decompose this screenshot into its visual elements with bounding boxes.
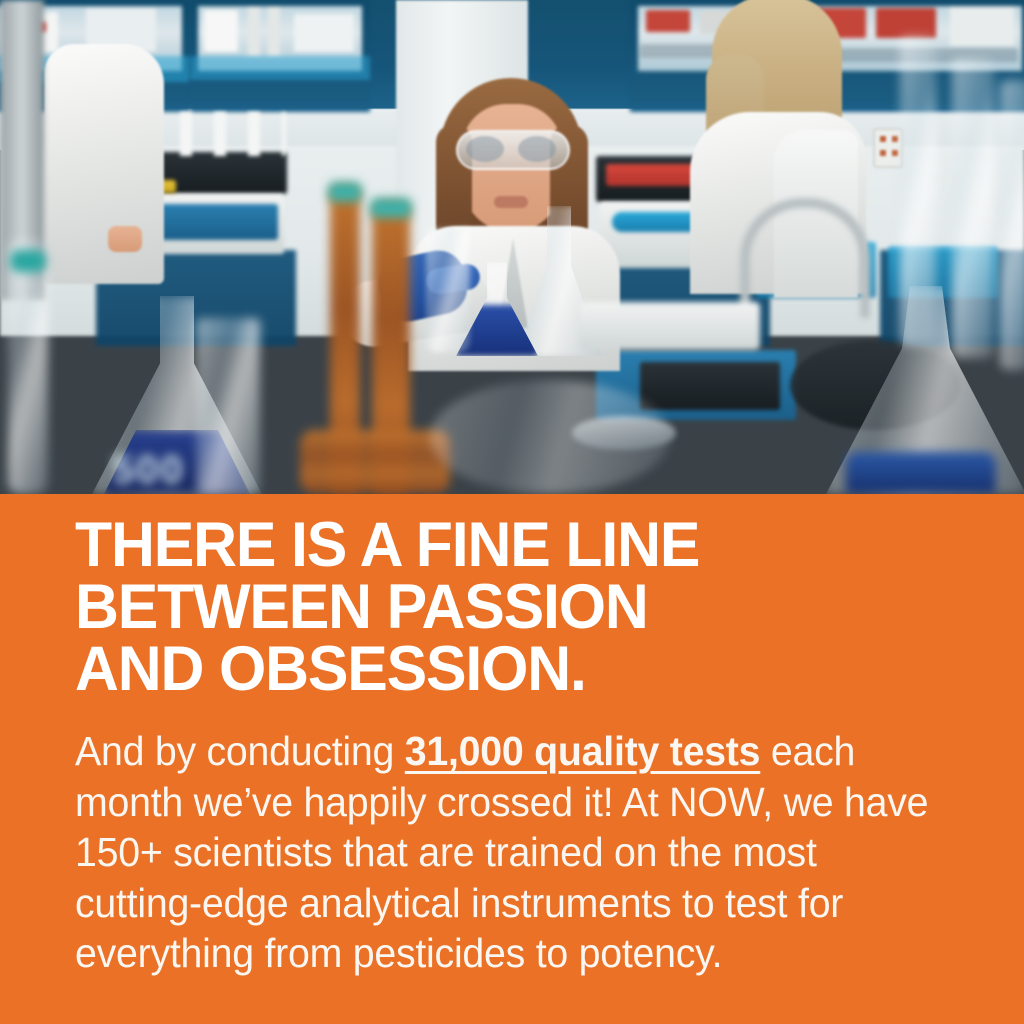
pipette-teal-tip <box>10 250 46 272</box>
body-copy: And by conducting 31,000 quality tests e… <box>75 726 953 979</box>
beaker-foreground-left <box>196 318 260 494</box>
orange-text-panel: THERE IS A FINE LINE BETWEEN PASSION AND… <box>0 494 1024 1024</box>
laboratory-photo: 500 <box>0 0 1024 494</box>
graduated-cylinder-right-1 <box>900 36 936 346</box>
graduated-cylinder-right-2 <box>952 58 994 358</box>
test-tube-rack-left <box>146 112 286 156</box>
scientist-left <box>44 44 164 284</box>
graduated-cylinder-right-3 <box>1000 80 1024 370</box>
glassware-right-liquid <box>846 452 996 494</box>
headline-line-2: BETWEEN PASSION <box>75 576 944 638</box>
flask-500-label: 500 <box>112 448 208 492</box>
amber-column-cap-2 <box>370 198 412 218</box>
analyzer-screen <box>640 362 780 410</box>
social-media-card: 500 THERE IS A FINE LINE BETWEEN PASSION… <box>0 0 1024 1024</box>
amber-column-base <box>300 430 450 494</box>
amber-column-cap-1 <box>328 182 362 202</box>
headline-line-3: AND OBSESSION. <box>75 638 944 700</box>
gooseneck-faucet <box>740 198 870 318</box>
balance-platform <box>580 302 760 350</box>
beaker-center <box>426 228 470 352</box>
headline: THERE IS A FINE LINE BETWEEN PASSION AND… <box>75 514 944 700</box>
body-before: And by conducting <box>75 728 405 774</box>
headline-line-1: THERE IS A FINE LINE <box>75 514 944 576</box>
upper-cabinet-left-2 <box>190 0 370 112</box>
foreground-haze <box>430 380 670 494</box>
stat-highlight: 31,000 quality tests <box>405 728 760 774</box>
pipette-stand-left <box>8 240 48 494</box>
